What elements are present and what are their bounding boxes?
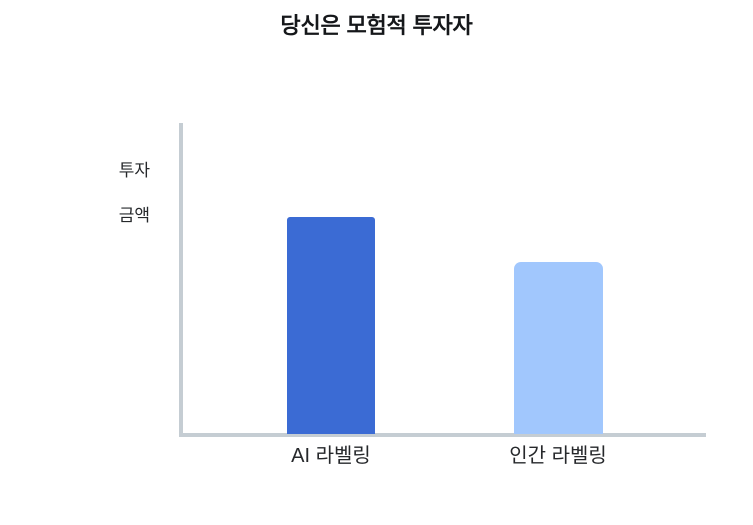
y-axis-label-line-1: 투자 xyxy=(40,148,150,193)
bar-human-labeling[interactable] xyxy=(514,262,603,434)
chart-title: 당신은 모험적 투자자 xyxy=(0,10,753,42)
y-axis-label-line-2: 금액 xyxy=(40,193,150,238)
bar-ai-labeling[interactable] xyxy=(287,217,375,434)
x-tick-label-human-labeling: 인간 라벨링 xyxy=(438,442,678,470)
x-tick-label-ai-labeling: AI 라벨링 xyxy=(211,442,451,470)
plot-area xyxy=(183,123,706,434)
y-axis-label: 투자 금액 xyxy=(40,148,150,238)
bar-chart-figure: 당신은 모험적 투자자 투자 금액 AI 라벨링 인간 라벨링 xyxy=(0,0,753,525)
